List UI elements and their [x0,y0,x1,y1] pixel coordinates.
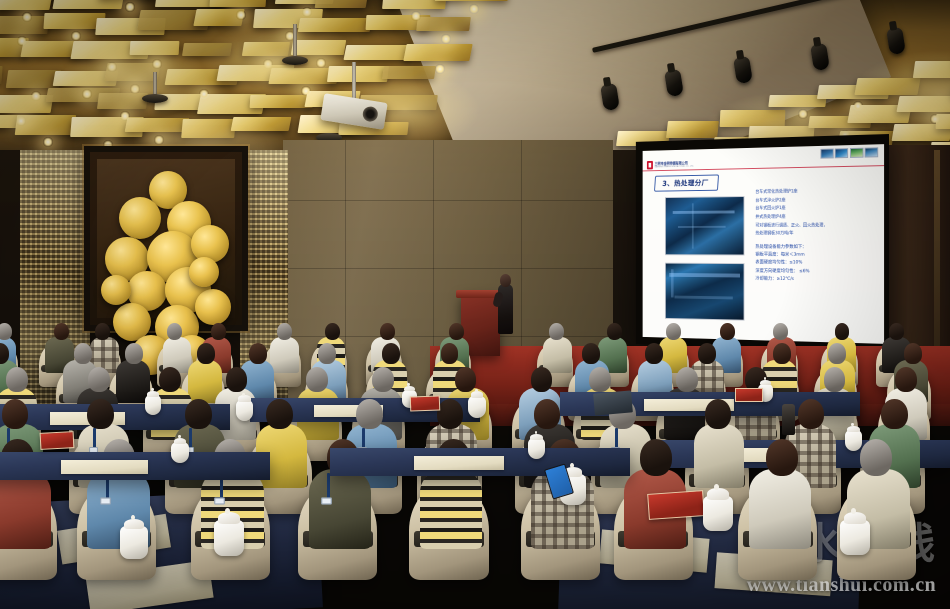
attendee-torso [749,469,811,548]
capability-line: 表面硬度均匀性：≤10% [755,262,880,267]
attendee-head [197,343,215,363]
attendee-head [226,367,248,392]
attendee-head [6,367,28,392]
slide-title: 3、热处理分厂 [654,174,719,191]
attendee-lanyard [327,473,330,499]
ceiling-glow [200,20,360,100]
speaker-stem [153,72,157,96]
attendee-torso [420,469,482,548]
capability-line: 冷却能力：≥12℃/s [755,277,880,283]
gold-ceiling-panel [182,43,232,56]
attendee-head [824,367,846,392]
recessed-downlight [16,116,26,126]
photo-thumb-1-icon [820,149,833,159]
attendee-head [441,343,459,363]
conference-table [330,448,630,476]
attendee-head [549,323,564,340]
capability-list: 钢板平直度：每米＜3mm表面硬度均匀性：≤10%深度方向硬度均匀性： ≤6%冷却… [755,254,880,284]
attendee-head [167,323,182,340]
name-placard [735,388,763,402]
art-frame [84,146,248,331]
attendee-head [2,399,28,429]
attendee-head [534,399,560,429]
attendee-head [449,323,464,340]
attendee-head [828,343,846,363]
gold-ceiling-panel [0,0,53,9]
attendee-head [766,439,798,476]
attendee-head [773,323,788,340]
attendee-head [645,343,663,363]
recessed-downlight [152,59,162,69]
heat-treatment-furnace-photo [665,196,745,255]
gold-ceiling-panel [855,78,921,95]
gold-ceiling-panel [97,93,148,109]
gold-ceiling-panel [181,119,235,138]
photo-thumb-4-icon [865,147,879,157]
attendee-head [904,343,922,363]
laptop [593,390,633,415]
attendee-head [249,343,267,363]
projection-screen: 三明市金明特钢有限公司 SANMING JINMING SPECIAL STEE… [636,134,889,352]
golden-sphere [195,289,231,325]
lidded-teacup [145,395,161,415]
attendee-head [306,367,328,392]
equipment-line: 台车式淬火炉2座 [755,198,880,204]
equipment-list: 台车式常化热处理炉1座台车式淬火炉2座台车式回火炉1座井式热处理炉4座可对钢板进… [755,189,880,237]
recessed-downlight [43,137,53,147]
gold-ceiling-panel [0,95,53,113]
equipment-line: 台车式常化热处理炉1座 [755,189,880,195]
attendee-head [437,399,463,429]
gold-ceiling-panel [382,66,436,79]
attendee-head [835,323,850,340]
attendee-head [889,323,904,340]
gold-ceiling-panel [327,66,389,82]
attendee-head [211,323,226,340]
attendee-torso [543,337,572,373]
gold-ceiling-panel [5,70,61,88]
gold-ceiling-panel [382,0,447,8]
slide-body-text: 台车式常化热处理炉1座台车式淬火炉2座台车式回火炉1座井式热处理炉4座可对钢板进… [755,189,880,287]
golden-sphere-relief-art [97,159,235,318]
attendee-head [895,367,917,392]
attendee-torso [309,469,371,548]
attendee-head [159,367,181,392]
slide-thumbnail-strip [820,147,878,158]
gold-ceiling-panel [130,41,180,55]
lidded-teacup [214,520,244,556]
speaker-stem [293,24,297,58]
gold-ceiling-panel [896,96,950,112]
lidded-teacup [171,442,188,463]
capability-line: 深度方向硬度均匀性： ≤6% [755,270,880,276]
attendee-torso [270,337,299,373]
attendee-head [698,343,716,363]
golden-sphere [119,197,161,239]
recessed-downlight [469,4,479,14]
attendee-head [881,399,907,429]
attendee-head [95,323,110,340]
conference-table [0,452,270,480]
lidded-teacup [528,438,545,459]
equipment-line: 热处理钢板30万吨/年 [755,232,880,237]
attendee-head [356,399,382,429]
attendee-head [382,343,400,363]
name-placard [40,431,75,450]
attendee-head [74,343,92,363]
water-bottle [782,404,795,435]
capability-heading: 热处理设备能力参数如下： [755,246,880,251]
gold-ceiling-panel [53,0,125,9]
gold-ceiling-panel [315,0,368,7]
presenter-head [500,274,511,287]
lidded-teacup [236,400,253,421]
attendee-badge [321,498,332,505]
gold-ceiling-panel [125,118,189,132]
attendee-head [705,399,731,429]
equipment-line: 可对钢板进行调质、正火、回火热处理， [755,224,880,229]
notepad [61,460,148,474]
presentation-slide: 三明市金明特钢有限公司 SANMING JINMING SPECIAL STEE… [643,144,884,344]
name-placard [410,395,441,411]
ceiling-speaker [142,94,168,103]
attendee-head [125,343,143,363]
recessed-downlight [199,89,209,99]
equipment-line: 井式热处理炉4座 [755,215,880,220]
lidded-teacup [703,496,733,531]
gold-ceiling-panel [210,0,267,7]
attendee-head [380,323,395,340]
recessed-downlight [302,7,312,17]
attendee-torso [0,469,51,548]
recessed-downlight [107,62,117,72]
recessed-downlight [301,86,311,96]
company-logo: 三明市金明特钢有限公司 SANMING JINMING SPECIAL STEE… [647,160,694,170]
photo-thumb-3-icon [850,148,864,158]
photo-thumb-2-icon [835,148,848,158]
attendee-head [318,343,336,363]
recessed-downlight [435,64,445,74]
attendee-head [640,439,672,476]
recessed-downlight [17,36,27,46]
attendee-head [798,399,824,429]
conference-hall-photo: 三明市金明特钢有限公司 SANMING JINMING SPECIAL STEE… [0,0,950,609]
attendee-head [666,323,681,340]
attendee-head [325,323,340,340]
ceiling-speaker [282,56,308,65]
gold-ceiling-panel [242,42,290,56]
recessed-downlight [236,10,246,20]
golden-sphere [101,275,131,305]
track-spotlight [886,27,906,55]
attendee-head [185,399,211,429]
attendee-head [266,399,292,429]
lidded-teacup [845,430,862,451]
gold-ceiling-panel [435,0,511,1]
gold-ceiling-panel [404,44,473,61]
attendee-head [372,367,394,392]
recessed-downlight [316,58,326,68]
attendee-badge [100,498,111,505]
attendee-head [773,343,791,363]
attendee-badge [214,498,225,505]
gold-ceiling-panel [291,40,346,55]
recessed-downlight [154,135,164,145]
attendee-head [455,367,477,392]
attendee-head [88,367,110,392]
gold-ceiling-panel [343,45,413,60]
gold-ceiling-panel [298,18,373,32]
attendee-head [582,343,600,363]
gold-ceiling-panel [912,61,950,78]
gold-ceiling-panel [417,17,471,31]
recessed-downlight [798,109,808,119]
gold-ceiling-panel [0,66,3,84]
heat-treatment-line-photo [665,263,745,321]
attendee-head [676,367,698,392]
name-placard [647,490,705,520]
capability-block: 热处理设备能力参数如下： 钢板平直度：每米＜3mm表面硬度均匀性：≤10%深度方… [755,246,880,284]
logo-mark-icon [647,161,653,170]
golden-sphere [189,257,219,287]
attendee-head [860,439,892,476]
recessed-downlight [31,91,41,101]
capability-line: 钢板平直度：每米＜3mm [755,254,880,259]
equipment-line: 台车式回火炉1座 [755,206,880,212]
attendee-head [277,323,292,340]
lidded-teacup [468,396,486,418]
lidded-teacup [120,526,148,559]
lidded-teacup [840,520,870,555]
recessed-downlight [125,2,135,12]
attendee-head [87,399,113,429]
recessed-downlight [71,31,81,41]
attendee-head [54,323,69,340]
notepad [414,456,504,470]
attendee-head [531,367,553,392]
attendee-head [607,323,622,340]
attendee-head [589,367,611,392]
gold-ceiling-panel [666,121,719,138]
attendee-head [720,323,735,340]
gold-ceiling-panel [230,117,291,131]
attendee-torso [694,424,745,489]
